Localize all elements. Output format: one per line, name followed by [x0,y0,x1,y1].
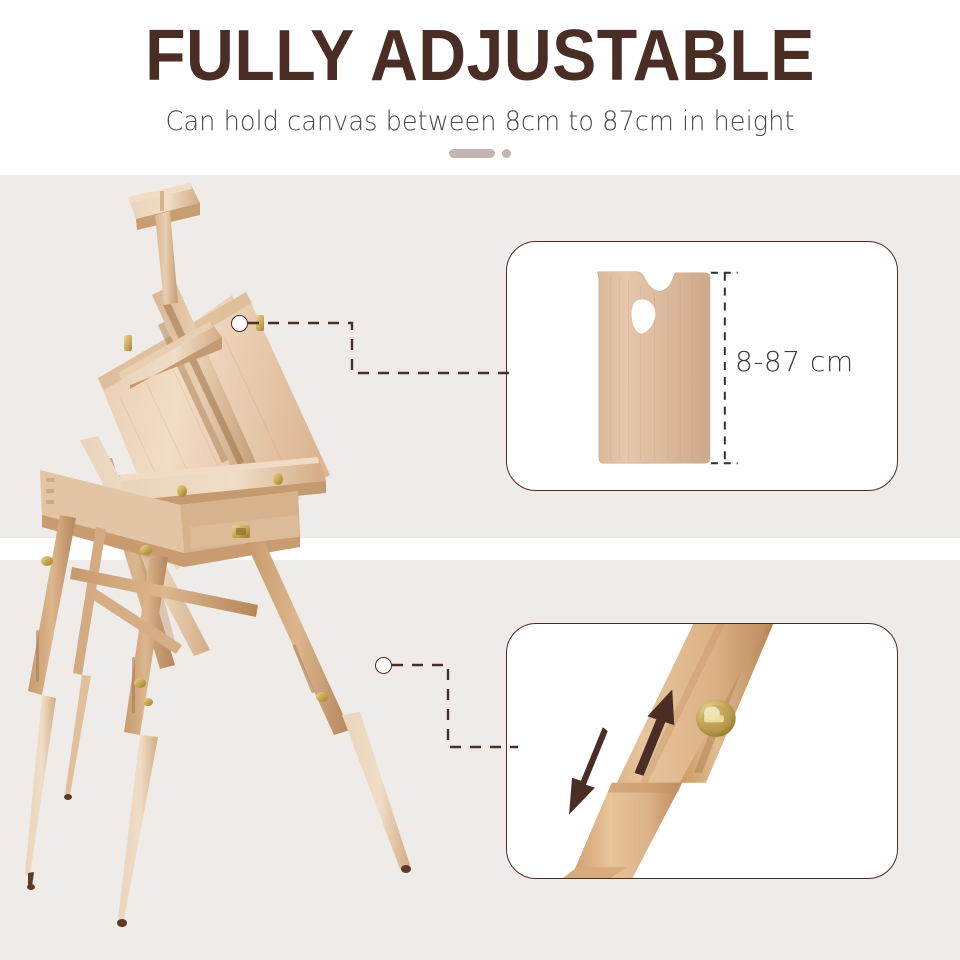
section-divider-band [0,538,960,560]
arrow-down-icon [569,727,608,814]
callout-dot-2[interactable] [375,657,392,674]
infographic-root: FULLY ADJUSTABLE Can hold canvas between… [0,0,960,960]
canvas-height-card: 8-87 cm [506,241,898,491]
callout-dot-1[interactable] [231,315,248,332]
pagination-inactive-dot[interactable] [502,149,511,158]
leg-adjustment-card [506,623,898,879]
dimension-line [711,273,738,463]
brass-knob-icon [696,699,736,737]
pagination-indicator[interactable] [449,149,511,158]
palette-board [598,272,710,463]
page-title: FULLY ADJUSTABLE [145,18,815,94]
card-top-content: 8-87 cm [507,242,897,490]
pagination-active-dot[interactable] [449,149,495,158]
card-bottom-content [507,624,897,878]
page-subtitle: Can hold canvas between 8cm to 87cm in h… [166,106,795,138]
dimension-label: 8-87 cm [735,345,854,378]
header: FULLY ADJUSTABLE Can hold canvas between… [0,0,960,175]
